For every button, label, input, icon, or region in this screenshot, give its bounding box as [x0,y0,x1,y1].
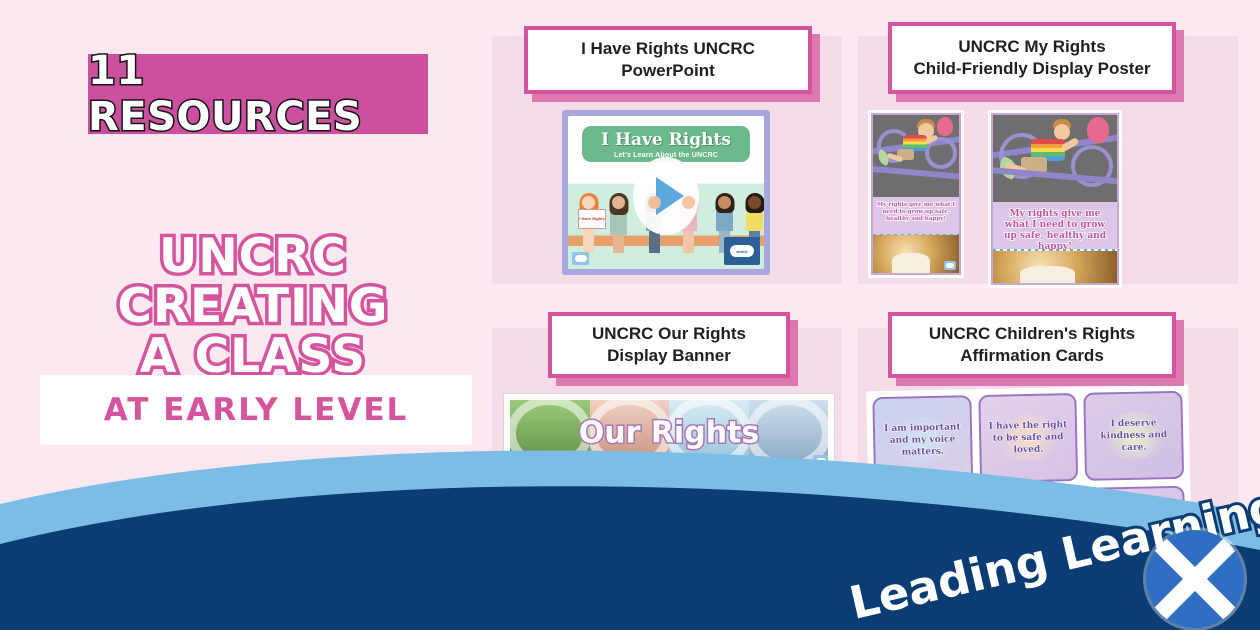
powerpoint-thumbnail[interactable]: I Have Rights Let's Learn About the UNCR… [562,110,770,275]
resource-count-label: 11 RESOURCES [88,48,428,140]
child-figure: I Have Rights [580,196,597,253]
chalk-photo [993,115,1117,209]
resource-label-line-2: Display Banner [607,346,731,365]
twinkl-logo-icon [572,252,589,265]
resource-count-badge: 11 RESOURCES [88,54,428,134]
child-sign-text: I Have Rights [579,217,604,221]
twinkl-brand-text: twinkl [736,249,747,254]
powerpoint-slide: I Have Rights Let's Learn About the UNCR… [568,116,764,269]
poster-caption: My rights give me what I need to grow up… [877,202,955,222]
scotland-flag-icon [1146,530,1244,628]
chalk-photo [873,115,959,203]
poster-canvas: 11 RESOURCES UNCRC CREATING A CLASS CHAR… [0,0,1260,630]
resource-label-line-1: UNCRC Children's Rights [929,324,1135,343]
resource-label-text: I Have Rights UNCRC PowerPoint [528,38,808,82]
resource-label-affirmation: UNCRC Children's Rights Affirmation Card… [888,312,1176,378]
resource-label-banner: UNCRC Our Rights Display Banner [548,312,790,378]
child-figure [610,196,627,253]
page-title-line-1: UNCRC CREATING [18,232,488,332]
child-photo [993,251,1117,283]
play-icon [656,177,684,215]
poster-caption: My rights give me what I need to grow up… [997,209,1113,253]
resource-label-line-1: UNCRC My Rights [958,37,1105,56]
slide-heading: I Have Rights [601,130,731,150]
resource-label-powerpoint: I Have Rights UNCRC PowerPoint [524,26,812,94]
display-poster-large[interactable]: My rights give me what I need to grow up… [988,110,1122,288]
subtitle-band: AT EARLY LEVEL [40,375,472,445]
child-sign: I Have Rights [578,209,606,229]
display-poster-small[interactable]: My rights give me what I need to grow up… [868,110,964,278]
twinkl-brand-badge: twinkl [724,237,760,265]
resource-label-line-2: Child-Friendly Display Poster [913,59,1150,78]
subtitle-label: AT EARLY LEVEL [104,392,409,428]
resource-label-line-1: UNCRC Our Rights [592,324,746,343]
resource-label-poster: UNCRC My Rights Child-Friendly Display P… [888,22,1176,94]
twinkl-logo-icon [944,261,956,270]
resource-label-line-2: Affirmation Cards [960,346,1104,365]
